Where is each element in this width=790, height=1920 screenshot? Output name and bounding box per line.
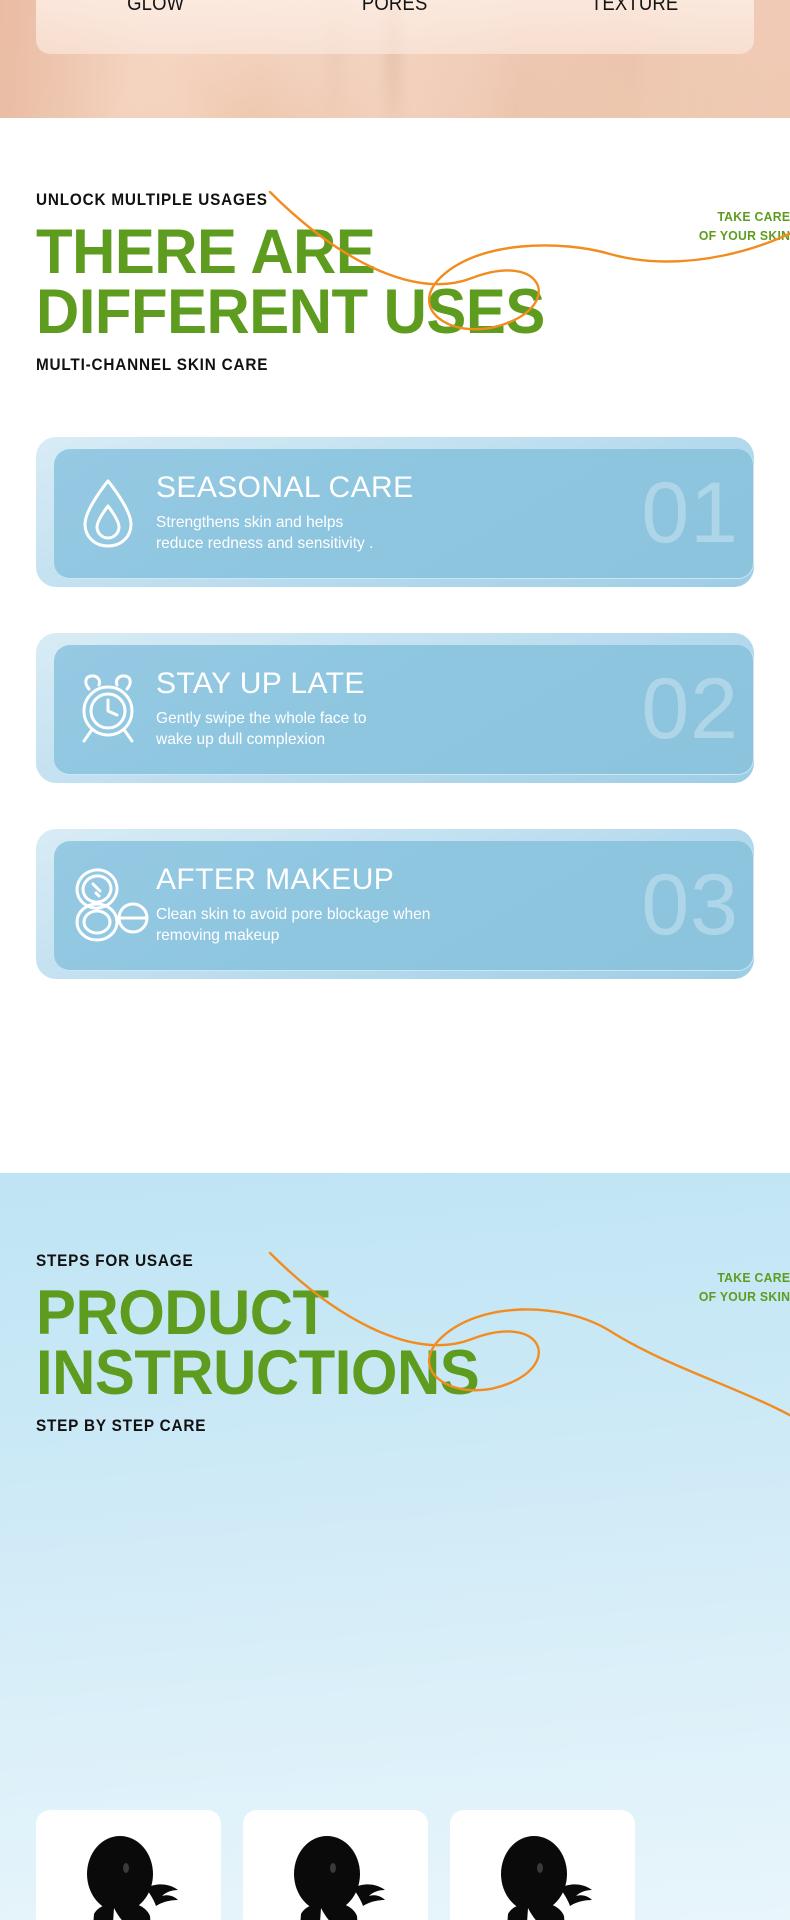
uses-take-care-badge: TAKE CARE OF YOUR SKIN <box>699 208 790 246</box>
card-number-02: 02 <box>641 666 739 752</box>
woman-silhouette-icon <box>54 1828 204 1920</box>
card-title: STAY UP LATE <box>156 668 373 700</box>
water-drop-icon <box>60 476 156 550</box>
uses-title-line2: DIFFERENT USES <box>36 282 718 342</box>
uses-title: THERE ARE DIFFERENT USES <box>36 222 718 343</box>
uses-subline: MULTI-CHANNEL SKIN CARE <box>36 355 682 375</box>
uses-card-list: 01 SEASONAL CARE Strengthens skin and he… <box>0 437 790 979</box>
instructions-take-care-badge: TAKE CARE OF YOUR SKIN <box>699 1269 790 1307</box>
alarm-clock-icon <box>60 672 156 746</box>
benefit-item-2: TIGHTENS PORES <box>290 0 501 18</box>
uses-badge-line1: TAKE CARE <box>699 208 790 227</box>
instructions-badge-line2: OF YOUR SKIN <box>699 1288 790 1307</box>
card-text-block: AFTER MAKEUP Clean skin to avoid pore bl… <box>156 864 439 947</box>
card-inner-panel: 01 SEASONAL CARE Strengthens skin and he… <box>54 449 754 579</box>
uses-badge-line2: OF YOUR SKIN <box>699 227 790 246</box>
benefit-item-1: DELICATE GLOW <box>50 0 261 18</box>
use-card-stay-up-late[interactable]: 02 STAY UP LATE Gently swip <box>36 633 754 783</box>
product-instructions-section: STEPS FOR USAGE PRODUCT INSTRUCTIONS STE… <box>0 1173 790 1920</box>
step-card-list <box>36 1810 635 1920</box>
instructions-subline: STEP BY STEP CARE <box>36 1416 682 1436</box>
uses-heading-block: UNLOCK MULTIPLE USAGES THERE ARE DIFFERE… <box>0 190 790 375</box>
card-desc-line2: removing makeup <box>156 925 430 947</box>
card-text-block: STAY UP LATE Gently swipe the whole face… <box>156 668 373 751</box>
card-desc-line2: reduce redness and sensitivity . <box>156 533 406 555</box>
use-card-seasonal-care[interactable]: 01 SEASONAL CARE Strengthens skin and he… <box>36 437 754 587</box>
step-card-3[interactable] <box>450 1810 635 1920</box>
card-desc-line2: wake up dull complexion <box>156 729 367 751</box>
benefit-3-line2: TEXTURE <box>591 0 678 15</box>
card-description: Strengthens skin and helps reduce rednes… <box>156 512 406 555</box>
instructions-title: PRODUCT INSTRUCTIONS <box>36 1283 718 1404</box>
card-description: Gently swipe the whole face to wake up d… <box>156 708 367 751</box>
benefit-item-3: STABLE SKIN TEXTURE <box>529 0 740 18</box>
use-card-after-makeup[interactable]: 03 AFTER MAKEUP <box>36 829 754 979</box>
uses-eyebrow: UNLOCK MULTIPLE USAGES <box>36 190 682 210</box>
woman-silhouette-icon <box>261 1828 411 1920</box>
card-inner-panel: 03 AFTER MAKEUP <box>54 841 754 971</box>
card-title: SEASONAL CARE <box>156 472 414 504</box>
hero-banner: DELICATE GLOW TIGHTENS PORES STABLE SKIN… <box>0 0 790 118</box>
card-inner-panel: 02 STAY UP LATE Gently swip <box>54 645 754 775</box>
instructions-eyebrow: STEPS FOR USAGE <box>36 1251 682 1271</box>
card-desc-line1: Strengthens skin and helps <box>156 512 406 534</box>
card-text-block: SEASONAL CARE Strengthens skin and helps… <box>156 472 414 555</box>
card-desc-line1: Gently swipe the whole face to <box>156 708 367 730</box>
benefit-2-line2: PORES <box>362 0 428 15</box>
step-card-1[interactable] <box>36 1810 221 1920</box>
compact-mirror-icon <box>60 866 156 944</box>
card-title: AFTER MAKEUP <box>156 864 439 896</box>
different-uses-section: UNLOCK MULTIPLE USAGES THERE ARE DIFFERE… <box>0 118 790 1173</box>
card-desc-line1: Clean skin to avoid pore blockage when <box>156 904 430 926</box>
instructions-heading-block: STEPS FOR USAGE PRODUCT INSTRUCTIONS STE… <box>0 1251 790 1436</box>
step-card-2[interactable] <box>243 1810 428 1920</box>
card-number-03: 03 <box>641 862 739 948</box>
instructions-badge-line1: TAKE CARE <box>699 1269 790 1288</box>
woman-silhouette-icon <box>468 1828 618 1920</box>
card-description: Clean skin to avoid pore blockage when r… <box>156 904 430 947</box>
card-number-01: 01 <box>641 470 739 556</box>
benefit-1-line2: GLOW <box>127 0 184 15</box>
benefits-card: DELICATE GLOW TIGHTENS PORES STABLE SKIN… <box>36 0 754 54</box>
instructions-title-line2: INSTRUCTIONS <box>36 1343 718 1403</box>
